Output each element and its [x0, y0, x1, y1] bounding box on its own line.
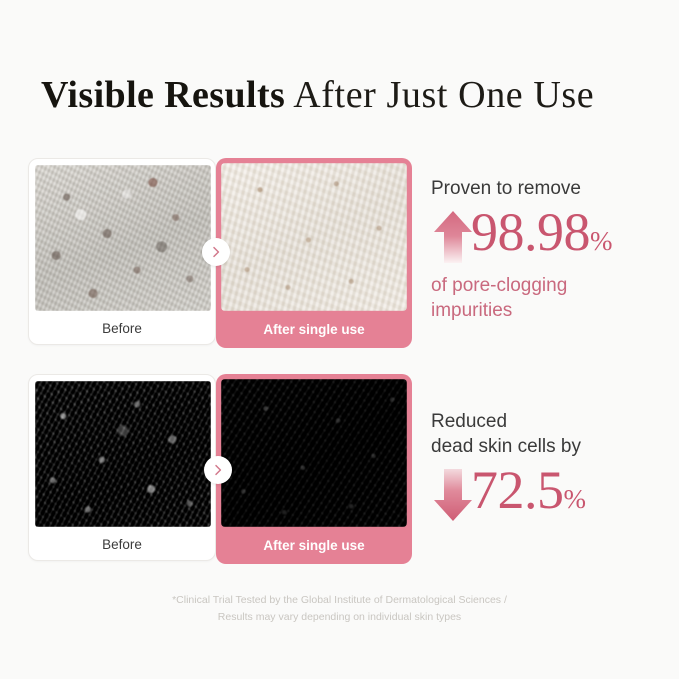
page-title: Visible Results After Just One Use — [41, 72, 651, 120]
before-label-dead-skin: Before — [29, 527, 215, 561]
infographic-page: Visible Results After Just One Use Befor… — [0, 0, 679, 679]
stat-block-pores: Proven to remove 98.98% of p — [431, 176, 667, 323]
stat-number-text: 98.98 — [471, 202, 590, 262]
skin-texture-after-dead-skin — [221, 379, 407, 527]
stat-percent-sign: % — [564, 484, 587, 514]
skin-texture-before-dead-skin — [35, 381, 211, 527]
before-card-dead-skin: Before — [28, 374, 216, 561]
stat-figure-pores: 98.98% — [431, 203, 667, 270]
after-card-pores: After single use — [216, 158, 412, 348]
stat-figure-dead-skin: 72.5% — [431, 461, 667, 528]
after-label-dead-skin: After single use — [216, 527, 412, 564]
before-image-dead-skin — [35, 381, 211, 527]
stat-percent-sign: % — [590, 226, 613, 256]
before-label-pores: Before — [29, 311, 215, 345]
stat-tail-pores: of pore-clogging impurities — [431, 273, 667, 323]
stat-lead-pores: Proven to remove — [431, 176, 667, 201]
arrow-down-icon — [431, 466, 475, 524]
chevron-right-icon — [204, 456, 232, 484]
after-label-pores: After single use — [216, 311, 412, 348]
stat-block-dead-skin: Reduced dead skin cells by 72.5% — [431, 409, 667, 528]
chevron-right-icon — [202, 238, 230, 266]
stat-number-text: 72.5 — [471, 460, 564, 520]
after-image-dead-skin — [221, 379, 407, 527]
footnote-disclaimer: *Clinical Trial Tested by the Global Ins… — [0, 592, 679, 626]
page-title-light: After Just One Use — [285, 74, 594, 116]
after-card-dead-skin: After single use — [216, 374, 412, 564]
page-title-bold: Visible Results — [41, 74, 285, 116]
stat-value-pores: 98.98% — [471, 203, 613, 270]
arrow-up-icon — [431, 208, 475, 266]
stat-lead-dead-skin: Reduced dead skin cells by — [431, 409, 667, 459]
before-card-pores: Before — [28, 158, 216, 345]
stat-value-dead-skin: 72.5% — [471, 461, 586, 528]
skin-texture-before-pores — [35, 165, 211, 311]
after-image-pores — [221, 163, 407, 311]
before-image-pores — [35, 165, 211, 311]
skin-texture-after-pores — [221, 163, 407, 311]
